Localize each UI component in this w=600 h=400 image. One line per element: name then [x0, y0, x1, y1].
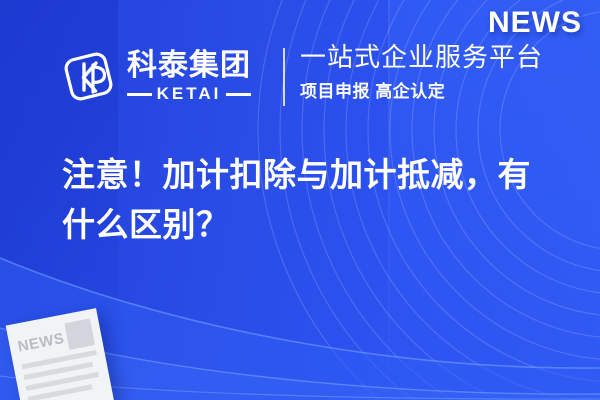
tagline-main: 一站式企业服务平台: [300, 42, 543, 73]
news-label: NEWS: [488, 6, 582, 40]
brand-logo: 科泰集团 KETAI: [62, 42, 251, 112]
tagline-block: 一站式企业服务平台 项目申报 高企认定: [300, 42, 543, 102]
brand-name-en: KETAI: [157, 84, 222, 104]
brand-rule-left: [127, 93, 152, 96]
newspaper-icon: NEWS: [6, 308, 115, 400]
newspaper-masthead: NEWS: [17, 331, 66, 355]
tagline-sub: 项目申报 高企认定: [300, 77, 543, 102]
news-banner: 科泰集团 KETAI 一站式企业服务平台 项目申报 高企认定 NEWS 注意！加…: [0, 0, 600, 400]
ketai-kp-diamond-logo-icon: [62, 48, 118, 106]
brand-tagline-divider: [283, 48, 285, 106]
page-title: 注意！加计扣除与加计抵减，有什么区别？: [62, 150, 562, 249]
brand-name-en-row: KETAI: [127, 84, 251, 104]
newspaper-thumbnail: [64, 318, 95, 349]
newspaper-text-lines: [21, 350, 103, 400]
brand-name-cn: 科泰集团: [127, 50, 251, 82]
brand-rule-right: [226, 93, 251, 96]
